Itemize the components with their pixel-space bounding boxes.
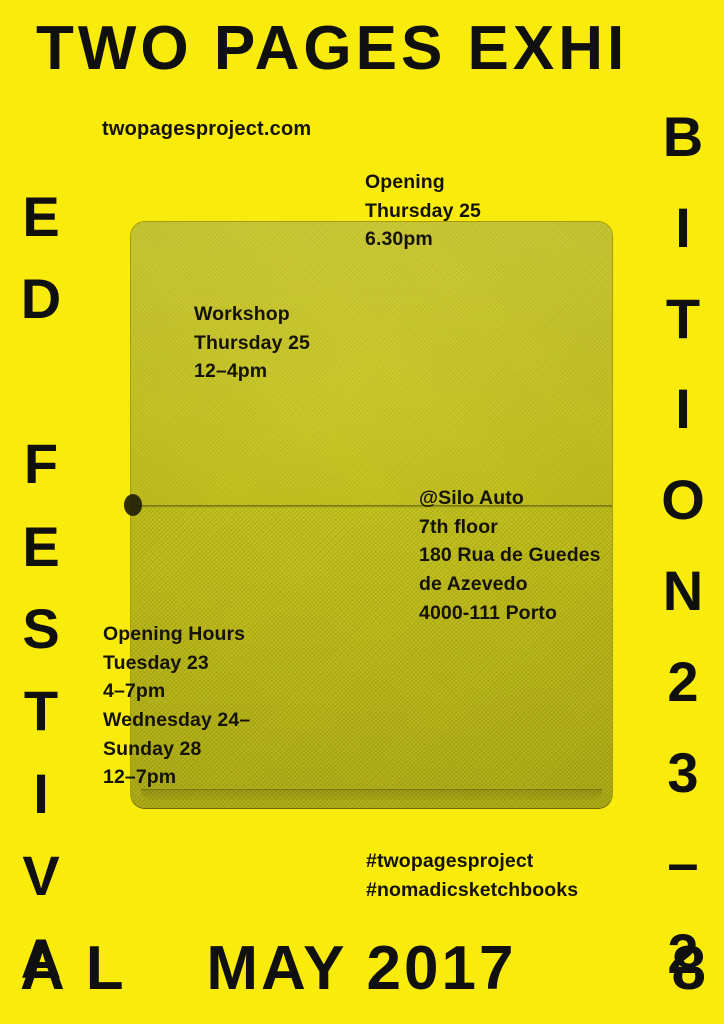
venue-address-block: @Silo Auto 7th floor 180 Rua de Guedes d… [419,484,601,627]
poster-headline: TWO PAGES EXHI [36,18,628,80]
left-char-4: E [22,506,59,588]
poster-canvas: TWO PAGES EXHI twopagesproject.com E D F… [0,0,724,1024]
opening-info-block: Opening Thursday 25 6.30pm [365,168,481,254]
right-vertical-lettering: B I T I O N 2 3 – 2 [650,92,716,1000]
left-char-7: I [33,753,49,835]
poster-bottomline: A L MAY 2017 [20,938,516,1000]
right-char-7: 3 [667,728,698,819]
right-char-1: I [675,183,691,274]
left-char-0: E [22,176,59,258]
website-url[interactable]: twopagesproject.com [102,118,311,141]
left-char-8: V [22,835,59,917]
bottom-right-char: 8 [672,938,706,1000]
right-char-4: O [661,455,705,546]
right-char-3: I [675,364,691,455]
workshop-info-block: Workshop Thursday 25 12–4pm [194,300,310,386]
left-char-3: F [24,423,58,505]
right-char-2: T [666,274,700,365]
left-vertical-lettering: E D F E S T I V A [8,176,74,1000]
right-char-0: B [663,92,703,183]
left-char-1: D [21,258,61,340]
right-char-6: 2 [667,637,698,728]
sketchbook-elastic-clasp-icon [124,494,142,516]
right-char-8: – [667,818,698,909]
opening-hours-block: Opening Hours Tuesday 23 4–7pm Wednesday… [103,620,250,792]
left-char-5: S [22,588,59,670]
hashtags-block: #twopagesproject #nomadicsketchbooks [366,847,578,904]
left-char-6: T [24,670,58,752]
right-char-5: N [663,546,703,637]
